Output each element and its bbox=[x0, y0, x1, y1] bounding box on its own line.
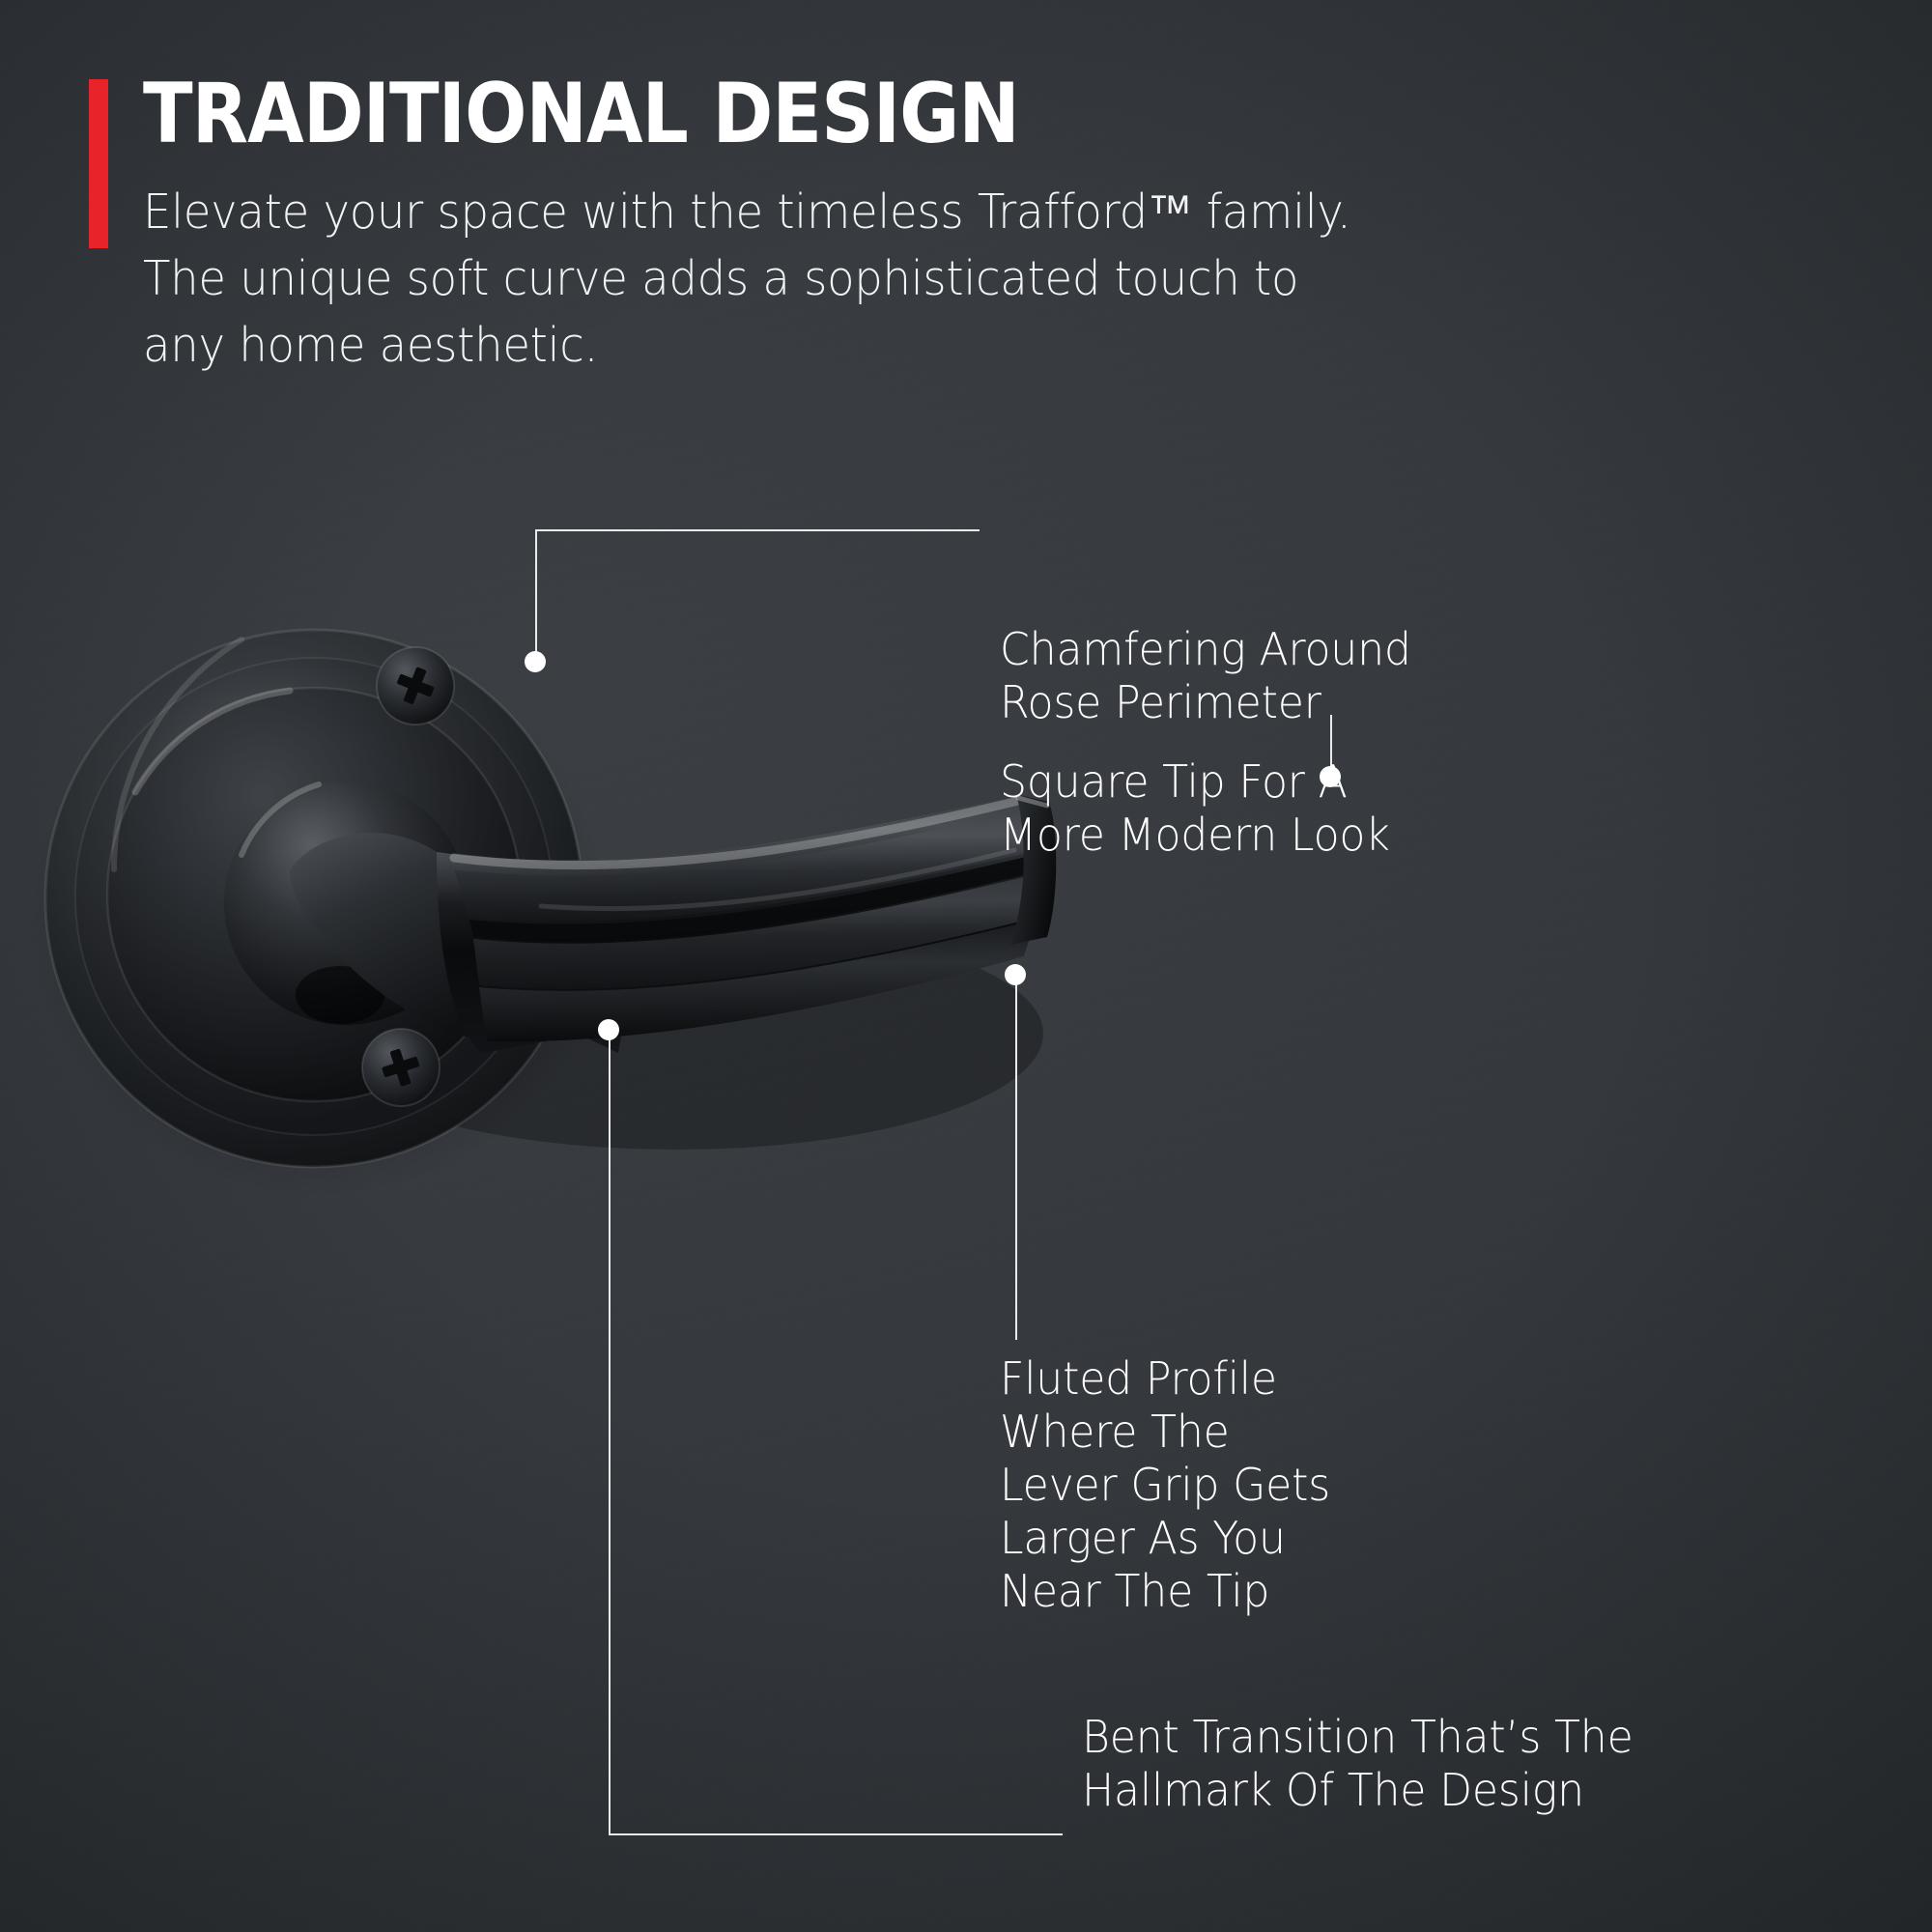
phillips-screw-bottom bbox=[362, 1029, 440, 1106]
callout-fluted-profile: Fluted Profile Where The Lever Grip Gets… bbox=[1000, 1352, 1344, 1618]
callout-bent-transition: Bent Transition That’s The Hallmark Of T… bbox=[1082, 1711, 1656, 1817]
callout-leader-fluted-profile bbox=[1015, 975, 1017, 1340]
red-accent-bar bbox=[89, 79, 108, 248]
callout-dot-square-tip bbox=[1320, 766, 1341, 787]
callout-fluted-profile-label: Fluted Profile Where The Lever Grip Gets… bbox=[1000, 1352, 1330, 1618]
header-body-text: Elevate your space with the timeless Tra… bbox=[143, 179, 1382, 379]
callout-leader-bent-transition-vertical bbox=[609, 1030, 611, 1835]
phillips-screw-top bbox=[377, 647, 454, 724]
callout-leader-chamfering-horizontal bbox=[535, 529, 980, 531]
callout-dot-chamfering bbox=[525, 651, 546, 672]
callout-chamfering: Chamfering Around Rose Perimeter bbox=[1000, 623, 1428, 729]
callout-bent-transition-label: Bent Transition That’s The Hallmark Of T… bbox=[1082, 1711, 1634, 1817]
callout-dot-bent-transition bbox=[598, 1019, 619, 1040]
callout-chamfering-label: Chamfering Around Rose Perimeter bbox=[1000, 623, 1411, 729]
callout-square-tip: Square Tip For A More Modern Look bbox=[1000, 755, 1406, 862]
callout-dot-fluted-profile bbox=[1005, 964, 1026, 985]
page-title: TRADITIONAL DESIGN bbox=[143, 70, 1333, 158]
product-photo-door-lever bbox=[0, 415, 1063, 1575]
callout-leader-bent-transition-horizontal bbox=[609, 1833, 1063, 1835]
callout-leader-chamfering-vertical bbox=[535, 529, 537, 653]
